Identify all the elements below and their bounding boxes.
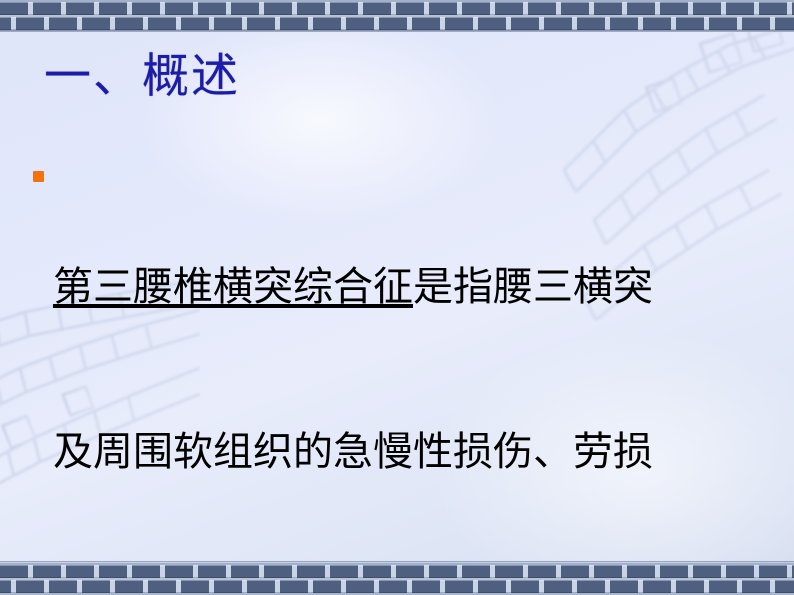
underlined-term: 第三腰椎横突综合征 [53, 264, 413, 310]
body-line-2: 及周围软组织的急慢性损伤、劳损 [53, 425, 773, 480]
square-bullet-icon [33, 171, 44, 182]
brick-row-lower [0, 17, 794, 30]
presentation-slide: 一、概述 第三腰椎横突综合征是指腰三横突 及周围软组织的急慢性损伤、劳损 及感受… [0, 0, 794, 595]
bullet-paragraph-block: 第三腰椎横突综合征是指腰三横突 及周围软组织的急慢性损伤、劳损 及感受风寒湿邪,… [33, 150, 773, 595]
bottom-band-hairline [0, 561, 794, 563]
brick-row-lower-bottom [0, 580, 794, 593]
body-line-1-rest: 是指腰三横突 [413, 264, 653, 310]
brick-row-upper [0, 2, 794, 15]
slide-title: 一、概述 [44, 52, 240, 101]
body-line-1: 第三腰椎横突综合征是指腰三横突 [53, 260, 773, 315]
bottom-brick-border [0, 563, 794, 595]
body-paragraph-text: 第三腰椎横突综合征是指腰三横突 及周围软组织的急慢性损伤、劳损 及感受风寒湿邪,… [53, 150, 773, 595]
top-brick-border [0, 0, 794, 32]
brick-row-upper-bottom [0, 565, 794, 578]
top-band-hairline [0, 30, 794, 32]
